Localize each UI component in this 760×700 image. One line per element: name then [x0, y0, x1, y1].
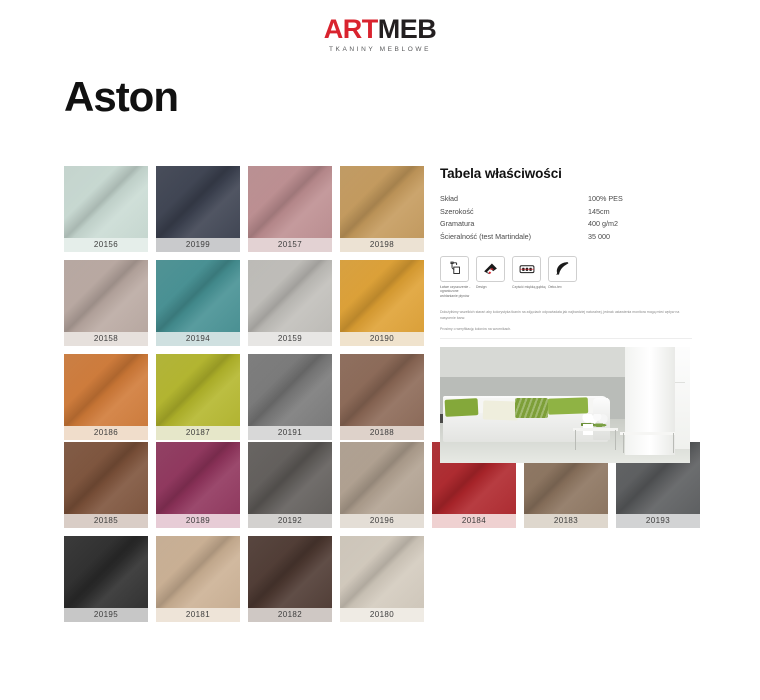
swatch-item[interactable]: 20188	[340, 354, 424, 440]
property-icon-cell: Łatwe czyszczenie - ograniczone wchłania…	[440, 256, 469, 299]
icon-caption: Design	[476, 285, 510, 290]
swatch-color	[340, 166, 424, 238]
icon-caption: Łatwe czyszczenie - ograniczone wchłania…	[440, 285, 474, 299]
table-row: Skład 100% PES	[440, 192, 672, 205]
swatch-code: 20196	[340, 514, 424, 528]
swatch-grid-main: 20156 20199 20157 20198 20158 2019	[64, 166, 424, 448]
swatch-color	[156, 536, 240, 608]
swatch-color	[248, 442, 332, 514]
swatch-item[interactable]: 20157	[248, 166, 332, 252]
properties-panel: Tabela właściwości Skład 100% PES Szerok…	[440, 166, 740, 463]
swatch-color	[248, 260, 332, 332]
properties-heading: Tabela właściwości	[440, 166, 740, 181]
property-icon-cell: 100 Oeko-tex	[548, 256, 577, 299]
room-interior-photo	[440, 347, 690, 463]
logo-tagline: TKANINY MEBLOWE	[0, 46, 760, 53]
svg-text:100: 100	[562, 270, 568, 274]
swatch-row-1: 20156 20199 20157 20198	[64, 166, 424, 252]
swatch-color	[248, 166, 332, 238]
swatch-code: 20188	[340, 426, 424, 440]
color-disclaimer: Dołożyliśmy wszelkich starań aby kolorys…	[440, 310, 692, 332]
swatch-code: 20156	[64, 238, 148, 252]
swatch-item[interactable]: 20159	[248, 260, 332, 346]
logo-art-text: ART	[324, 14, 378, 44]
swatch-color	[156, 442, 240, 514]
swatch-code: 20199	[156, 238, 240, 252]
swatch-row-2: 20158 20194 20159 20190	[64, 260, 424, 346]
swatch-color	[64, 166, 148, 238]
divider	[440, 338, 692, 339]
swatch-code: 20192	[248, 514, 332, 528]
brand-logo: ARTMEB TKANINY MEBLOWE	[0, 16, 760, 53]
swatch-row-3: 20186 20187 20191 20188	[64, 354, 424, 440]
swatch-item[interactable]: 20182	[248, 536, 332, 622]
logo-wordmark: ARTMEB	[0, 16, 760, 43]
disclaimer-line-1: Dołożyliśmy wszelkich starań aby kolorys…	[440, 310, 692, 321]
swatch-color	[340, 260, 424, 332]
swatch-item[interactable]: 20181	[156, 536, 240, 622]
sponge-icon	[512, 256, 541, 282]
swatch-color	[64, 260, 148, 332]
swatch-code: 20187	[156, 426, 240, 440]
swatch-code: 20191	[248, 426, 332, 440]
spec-value: 35 000	[588, 231, 672, 244]
page-title: Aston	[64, 74, 178, 120]
spec-value: 145cm	[588, 205, 672, 218]
swatch-code: 20183	[524, 514, 608, 528]
spec-value: 400 g/m2	[588, 218, 672, 231]
swatch-code: 20181	[156, 608, 240, 622]
swatch-item[interactable]: 20199	[156, 166, 240, 252]
swatch-item[interactable]: 20186	[64, 354, 148, 440]
swatch-item[interactable]: 20158	[64, 260, 148, 346]
swatch-code: 20180	[340, 608, 424, 622]
swatch-color	[156, 260, 240, 332]
swatch-code: 20190	[340, 332, 424, 346]
spec-label: Ścieralność (test Martindale)	[440, 231, 588, 244]
swatch-code: 20182	[248, 608, 332, 622]
swatch-color	[156, 354, 240, 426]
spec-label: Gramatura	[440, 218, 588, 231]
table-row: Gramatura 400 g/m2	[440, 218, 672, 231]
swatch-grid-wide: 20185 20189 20192 20196 20184 20183	[64, 442, 760, 630]
swatch-item[interactable]: 20195	[64, 536, 148, 622]
icon-caption: Czyścić miękką gąbką	[512, 285, 546, 290]
spec-value: 100% PES	[588, 192, 672, 205]
swatch-code: 20193	[616, 514, 700, 528]
swatch-item[interactable]: 20156	[64, 166, 148, 252]
swatch-item[interactable]: 20196	[340, 442, 424, 528]
swatch-item[interactable]: 20180	[340, 536, 424, 622]
swatch-color	[64, 354, 148, 426]
swatch-code: 20186	[64, 426, 148, 440]
icon-caption: Oeko-tex	[548, 285, 582, 290]
swatch-color	[248, 354, 332, 426]
swatch-item[interactable]: 20187	[156, 354, 240, 440]
swatch-color	[64, 442, 148, 514]
swatch-item[interactable]: 20189	[156, 442, 240, 528]
spec-label: Szerokość	[440, 205, 588, 218]
swatch-item[interactable]: 20191	[248, 354, 332, 440]
disclaimer-line-2: Prosimy o weryfikację kolorów na wzornik…	[440, 327, 692, 332]
swatch-item[interactable]: 20192	[248, 442, 332, 528]
spec-label: Skład	[440, 192, 588, 205]
leaf-oekotex-icon: 100	[548, 256, 577, 282]
logo-meb-text: MEB	[378, 14, 437, 44]
properties-table: Skład 100% PES Szerokość 145cm Gramatura…	[440, 192, 672, 244]
spray-bottle-icon	[440, 256, 469, 282]
fabric-catalog-page: ARTMEB TKANINY MEBLOWE Aston 20156 20199…	[0, 0, 760, 700]
property-icon-cell: Design	[476, 256, 505, 299]
fabric-design-icon	[476, 256, 505, 282]
swatch-color	[248, 536, 332, 608]
swatch-color	[64, 536, 148, 608]
table-row: Szerokość 145cm	[440, 205, 672, 218]
swatch-color	[156, 166, 240, 238]
swatch-code: 20195	[64, 608, 148, 622]
swatch-item[interactable]: 20190	[340, 260, 424, 346]
swatch-code: 20158	[64, 332, 148, 346]
swatch-code: 20159	[248, 332, 332, 346]
swatch-code: 20185	[64, 514, 148, 528]
table-row: Ścieralność (test Martindale) 35 000	[440, 231, 672, 244]
swatch-color	[340, 354, 424, 426]
swatch-code: 20198	[340, 238, 424, 252]
swatch-color	[340, 536, 424, 608]
swatch-code: 20157	[248, 238, 332, 252]
swatch-code: 20184	[432, 514, 516, 528]
swatch-code: 20189	[156, 514, 240, 528]
swatch-row-5: 20195 20181 20182 20180	[64, 536, 760, 622]
swatch-color	[340, 442, 424, 514]
swatch-item[interactable]: 20185	[64, 442, 148, 528]
swatch-item[interactable]: 20198	[340, 166, 424, 252]
property-icon-cell: Czyścić miękką gąbką	[512, 256, 541, 299]
property-icons: Łatwe czyszczenie - ograniczone wchłania…	[440, 256, 740, 299]
swatch-item[interactable]: 20194	[156, 260, 240, 346]
swatch-code: 20194	[156, 332, 240, 346]
